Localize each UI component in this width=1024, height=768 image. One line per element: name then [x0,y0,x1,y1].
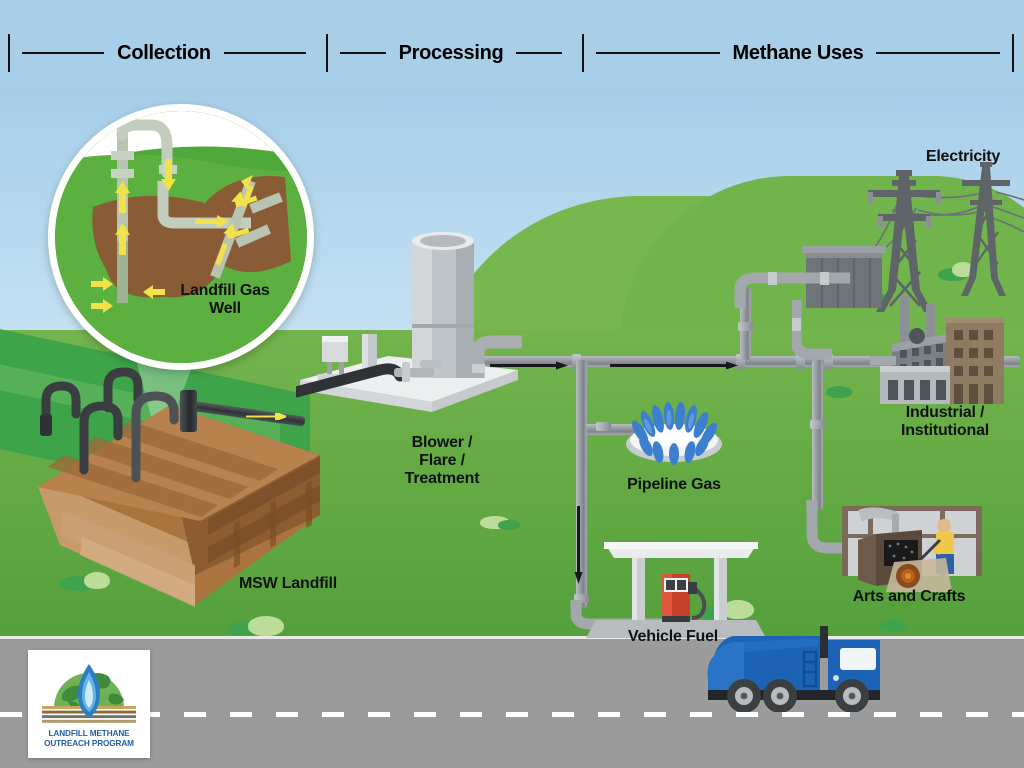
pipe-collar [596,422,611,431]
label-industrial: Industrial / [868,404,1022,422]
bracket-cap-right [1012,34,1014,72]
bush [498,520,520,530]
section-header-bar: Collection Processing Methane Uses [0,0,1024,88]
flow-arrow-icon [246,407,286,414]
bracket-cap-left [326,34,328,72]
bush [248,616,284,636]
logo-line-1: LANDFILL METHANE [28,729,150,739]
label-landfill-gas-well: Landfill Gas Well [160,282,290,318]
globe-flame-logo-icon [28,650,150,730]
arts-and-crafts-studio [836,500,996,596]
road-center-dashes [0,712,1024,717]
industrial-institutional-buildings [870,296,1010,414]
bracket-rule [224,52,306,54]
header-section-methane-uses: Methane Uses [582,30,1014,76]
label-institutional: Institutional [868,422,1022,440]
pipeline-to-arts-crafts [812,360,823,510]
label-arts-and-crafts: Arts and Crafts [824,588,994,606]
pipeline-to-burner [576,360,587,432]
logo-line-2: OUTREACH PROGRAM [28,739,150,749]
pipe-collar [810,420,825,429]
flow-arrow-icon [574,506,583,591]
label-electricity: Electricity [900,148,1024,166]
logo-text: LANDFILL METHANE OUTREACH PROGRAM [28,729,150,749]
bracket-cap-left [8,34,10,72]
flow-arrow-icon [490,357,570,375]
wellhead-riser [180,390,197,432]
label-landfill-gas-well-line2: Well [160,300,290,318]
bracket-rule [516,52,562,54]
header-label-methane-uses: Methane Uses [720,42,877,65]
label-pipeline-gas: Pipeline Gas [596,476,752,494]
pipeline-gas-burner [624,396,724,466]
label-blower-flare-treatment: Blower / Flare / Treatment [372,434,512,488]
blower-flare-treatment-facility [296,230,522,420]
bracket-cap-left [582,34,584,72]
generator-inlet-elbow [734,272,854,312]
bush [826,386,852,398]
header-label-collection: Collection [104,42,224,65]
bracket-rule [340,52,386,54]
bracket-rule [876,52,1000,54]
bracket-rule [22,52,104,54]
landfill-gas-well-callout [48,104,314,370]
header-section-collection: Collection [8,30,318,76]
label-blower: Blower / [372,434,512,452]
label-industrial-institutional: Industrial / Institutional [868,404,1022,440]
bracket-rule [596,52,720,54]
lmop-logo: LANDFILL METHANE OUTREACH PROGRAM [28,650,150,758]
infographic-canvas: Landfill Gas Well MSW Landfill Blower [0,0,1024,768]
label-flare: Flare / [372,452,512,470]
pipe-collar [738,322,753,331]
header-label-processing: Processing [386,42,517,65]
gas-well-detail [55,111,307,363]
header-section-processing: Processing [326,30,574,76]
label-landfill-gas-well-line1: Landfill Gas [160,282,290,300]
label-treatment: Treatment [372,470,512,488]
flow-arrow-icon [610,357,740,375]
label-msw-landfill: MSW Landfill [200,575,376,593]
callout-interior [55,111,307,363]
garbage-truck [700,612,890,712]
gas-collection-wellheads [16,362,246,482]
